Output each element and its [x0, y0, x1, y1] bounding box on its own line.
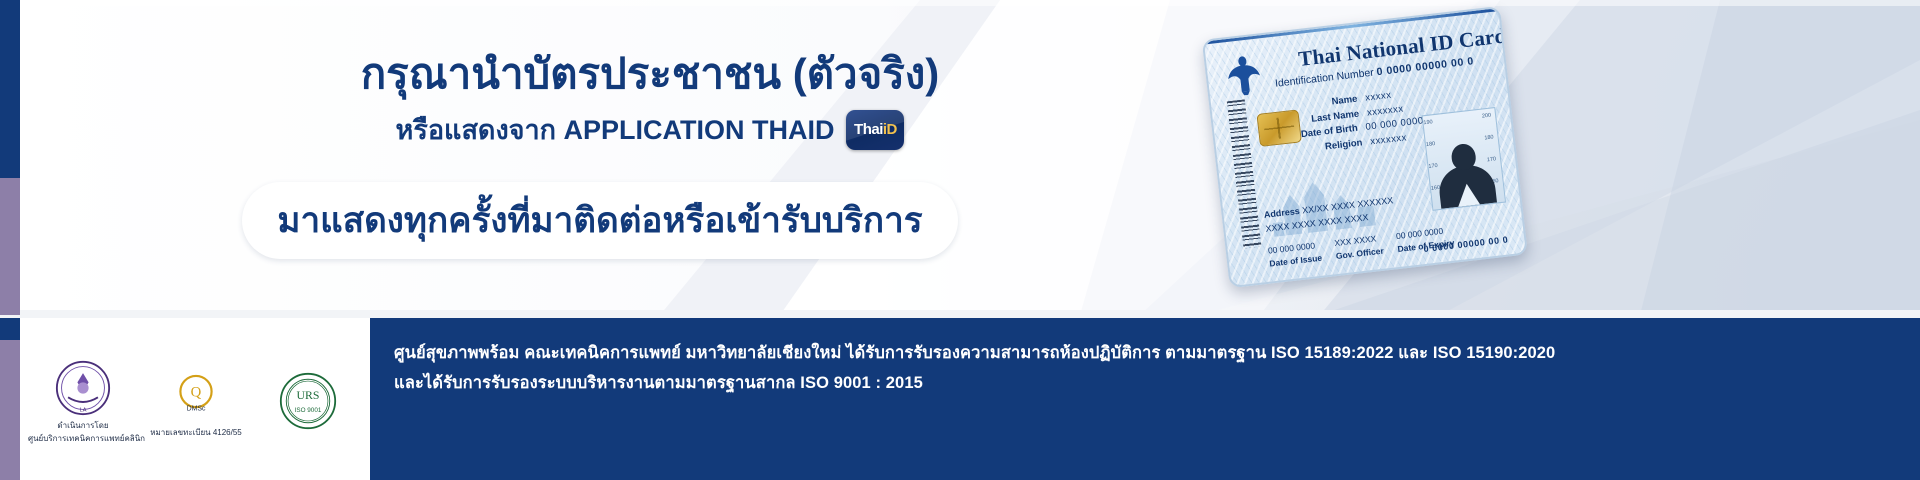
garuda-emblem-icon — [1223, 49, 1264, 97]
callout-pill: มาแสดงทุกครั้งที่มาติดต่อหรือเข้ารับบริก… — [242, 182, 958, 259]
clinical-lab-accreditation-logo-icon: LA — [28, 357, 138, 419]
id-card-face: Thai National ID Card Identification Num… — [1202, 6, 1528, 288]
dmsc-quality-logo: Q DMSc หมายเลขทะเบียน 4126/55 — [142, 364, 250, 439]
hero-section: กรุณานำบัตรประชาชน (ตัวจริง) หรือแสดงจาก… — [20, 0, 1920, 315]
left-accent-bar-bottom — [0, 318, 20, 480]
left-accent-bar-purple — [0, 178, 20, 315]
thaid-app-logo-icon: ThaiiD — [846, 110, 904, 150]
svg-text:LA: LA — [80, 408, 87, 414]
svg-text:ISO 9001: ISO 9001 — [295, 407, 322, 414]
urs-iso9001-logo: URS ISO 9001 — [254, 370, 362, 432]
left-accent-bar-bottom-blue — [0, 318, 20, 340]
clinical-lab-logo-caption-line2: ศูนย์บริการเทคนิคการแพทย์คลินิก — [28, 434, 138, 445]
id-card-chip-icon — [1256, 109, 1301, 147]
thai-national-id-card-illustration: Thai National ID Card Identification Num… — [1202, 6, 1531, 308]
footer-text-line-2: และได้รับการรับรองระบบบริหารงานตามมาตรฐา… — [394, 370, 1896, 396]
hero-heading-secondary: หรือแสดงจาก APPLICATION THAID — [396, 108, 835, 151]
hero-text-block: กรุณานำบัตรประชาชน (ตัวจริง) หรือแสดงจาก… — [270, 50, 1030, 151]
footer-accreditation-text: ศูนย์สุขภาพพร้อม คณะเทคนิคการแพทย์ มหาวิ… — [370, 318, 1920, 480]
dmsc-logo-caption: หมายเลขทะเบียน 4126/55 — [142, 428, 250, 439]
id-card-requirement-banner: กรุณานำบัตรประชาชน (ตัวจริง) หรือแสดงจาก… — [0, 0, 1920, 480]
svg-text:DMSc: DMSc — [187, 405, 206, 412]
svg-text:URS: URS — [297, 389, 320, 402]
urs-iso9001-logo-icon: URS ISO 9001 — [254, 370, 362, 432]
left-accent-bar-bottom-purple — [0, 340, 20, 480]
footer-text-line-1: ศูนย์สุขภาพพร้อม คณะเทคนิคการแพทย์ มหาวิ… — [394, 340, 1896, 366]
id-card-photo: 190 180 170 160 200 180 170 160 — [1422, 107, 1506, 211]
thaid-logo-text-accent: iD — [883, 121, 897, 138]
background-facets-decoration — [20, 0, 1920, 315]
ruler-tick-right: 200 — [1482, 113, 1492, 120]
callout-pill-text: มาแสดงทุกครั้งที่มาติดต่อหรือเข้ารับบริก… — [277, 193, 922, 248]
left-accent-bar-top — [0, 0, 20, 315]
footer-section: LA ดำเนินการโดย ศูนย์บริการเทคนิคการแพทย… — [20, 318, 1920, 480]
ruler-tick-left: 190 — [1423, 119, 1433, 126]
dmsc-quality-logo-icon: Q DMSc — [142, 364, 250, 426]
accreditation-logos: LA ดำเนินการโดย ศูนย์บริการเทคนิคการแพทย… — [20, 318, 370, 480]
hero-heading-primary: กรุณานำบัตรประชาชน (ตัวจริง) — [270, 50, 1030, 98]
left-accent-bar-blue — [0, 0, 20, 178]
clinical-lab-accreditation-logo: LA ดำเนินการโดย ศูนย์บริการเทคนิคการแพทย… — [28, 357, 138, 445]
portrait-silhouette-icon — [1434, 137, 1497, 209]
footer-divider — [20, 310, 1920, 318]
silhouette-collar — [1456, 183, 1480, 207]
id-card-address-label: Address — [1263, 206, 1300, 220]
thaid-logo-text-main: Thai — [854, 121, 883, 138]
svg-text:Q: Q — [191, 384, 202, 400]
hero-heading-secondary-row: หรือแสดงจาก APPLICATION THAID ThaiiD — [270, 108, 1030, 151]
clinical-lab-logo-caption-line1: ดำเนินการโดย — [28, 421, 138, 432]
